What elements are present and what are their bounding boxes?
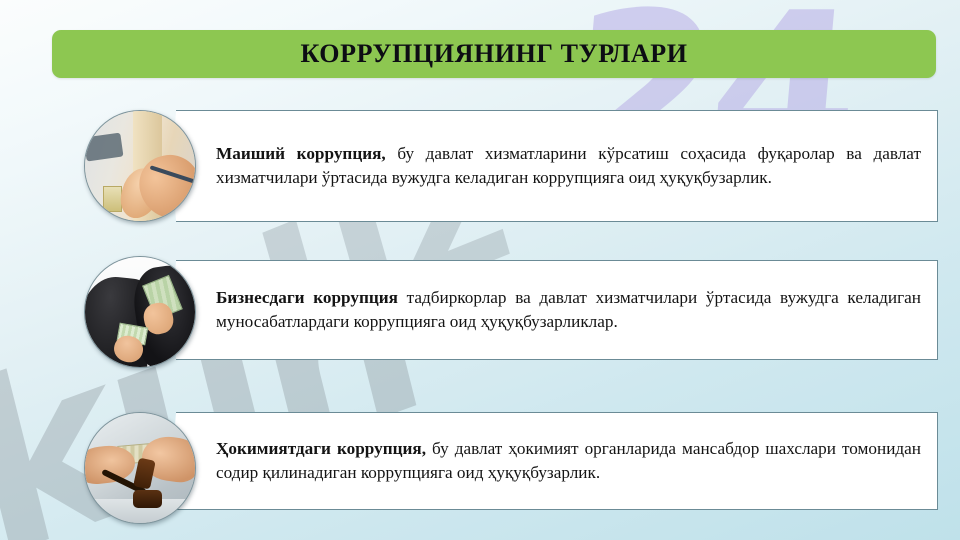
card-text: Ҳокимиятдаги коррупция, бу давлат ҳокими… bbox=[216, 437, 921, 484]
card-text: Маиший коррупция, бу давлат хизматларини… bbox=[216, 142, 921, 189]
photo-gavel-money-exchange-icon bbox=[84, 412, 196, 524]
photo-hand-bribe-door-icon bbox=[84, 110, 196, 222]
card-lead-label: Бизнесдаги коррупция bbox=[216, 288, 398, 307]
card-lead-label: Ҳокимиятдаги коррупция, bbox=[216, 439, 426, 458]
content-card: Маиший коррупция, бу давлат хизматларини… bbox=[194, 110, 938, 222]
card-lead-label: Маиший коррупция, bbox=[216, 144, 386, 163]
content-card: Бизнесдаги коррупция тадбиркорлар ва дав… bbox=[194, 260, 938, 360]
content-card: Ҳокимиятдаги коррупция, бу давлат ҳокими… bbox=[194, 412, 938, 510]
page-title: КОРРУПЦИЯНИНГ ТУРЛАРИ bbox=[300, 39, 687, 69]
card-text: Бизнесдаги коррупция тадбиркорлар ва дав… bbox=[216, 286, 921, 333]
photo-coat-money-icon bbox=[84, 256, 196, 368]
slide-title-bar: КОРРУПЦИЯНИНГ ТУРЛАРИ bbox=[52, 30, 936, 78]
